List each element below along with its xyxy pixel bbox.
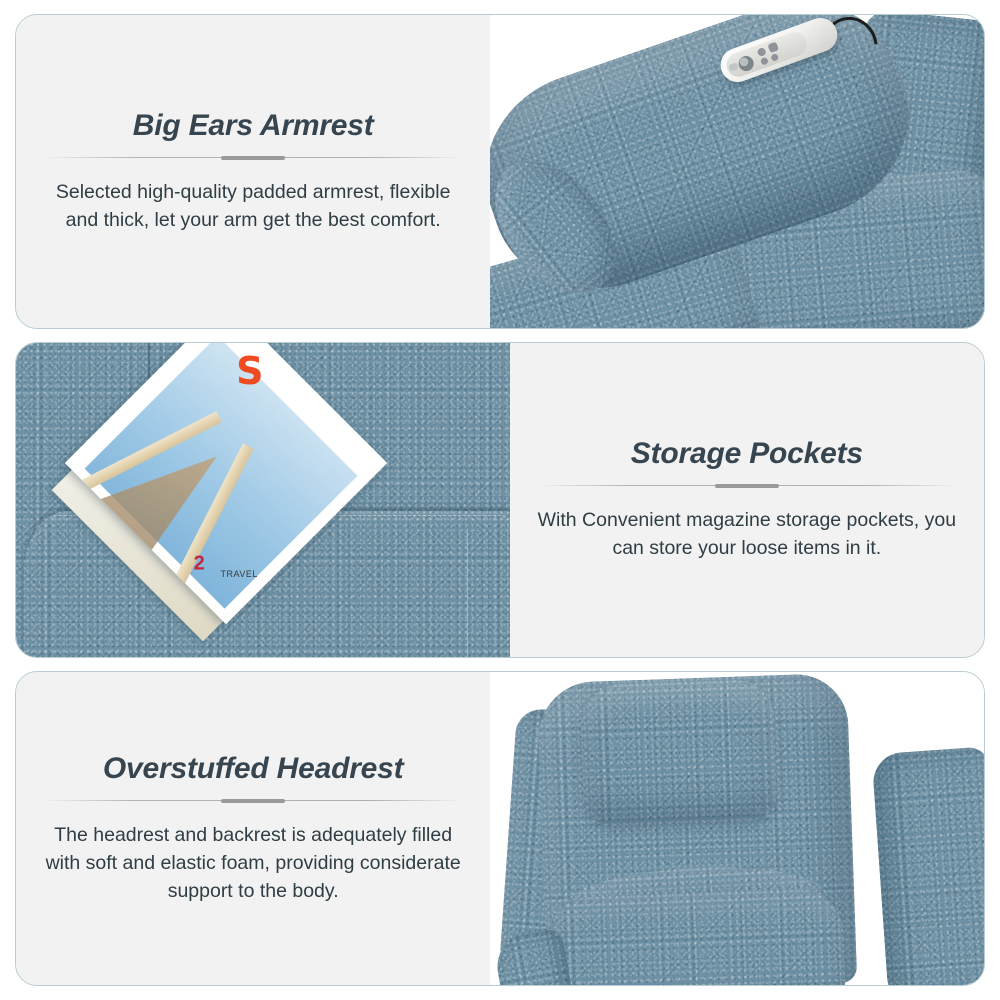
pocket-side-stitching: [467, 529, 468, 656]
remote-button-3-icon: [760, 57, 769, 66]
feature-title: Big Ears Armrest: [133, 109, 374, 143]
magazine-cover-number: 2: [194, 553, 205, 576]
title-divider: [536, 484, 958, 488]
feature-text-pane: Big Ears Armrest Selected high-quality p…: [16, 15, 490, 328]
title-divider: [42, 799, 464, 803]
remote-dial-icon: [737, 54, 756, 73]
chair-right-armrest: [871, 746, 984, 985]
feature-title: Storage Pockets: [631, 437, 863, 471]
feature-description: With Convenient magazine storage pockets…: [536, 506, 958, 562]
magazine-cover-letter: S: [236, 349, 263, 393]
feature-text-pane: Overstuffed Headrest The headrest and ba…: [16, 672, 490, 985]
headrest-photo: [490, 672, 984, 985]
lower-backrest-cushion: [546, 888, 846, 985]
headrest-cushion: [580, 678, 779, 827]
remote-button-2-icon: [768, 42, 780, 54]
feature-description: Selected high-quality padded armrest, fl…: [42, 178, 464, 234]
title-divider: [42, 156, 464, 160]
storage-pocket-photo: S 2 TRAVEL: [16, 343, 510, 656]
magazine-spine-text: TRAVEL: [220, 569, 257, 579]
remote-button-1-icon: [757, 47, 767, 57]
feature-infographic: Big Ears Armrest Selected high-quality p…: [0, 0, 1000, 1000]
feature-card-overstuffed-headrest: Overstuffed Headrest The headrest and ba…: [15, 671, 985, 986]
feature-card-big-ears-armrest: Big Ears Armrest Selected high-quality p…: [15, 14, 985, 329]
feature-title: Overstuffed Headrest: [103, 752, 404, 786]
armrest-photo: [490, 15, 984, 328]
feature-card-storage-pockets: Storage Pockets With Convenient magazine…: [15, 342, 985, 657]
feature-text-pane: Storage Pockets With Convenient magazine…: [510, 343, 984, 656]
feature-description: The headrest and backrest is adequately …: [42, 821, 464, 905]
remote-button-4-icon: [771, 53, 780, 62]
